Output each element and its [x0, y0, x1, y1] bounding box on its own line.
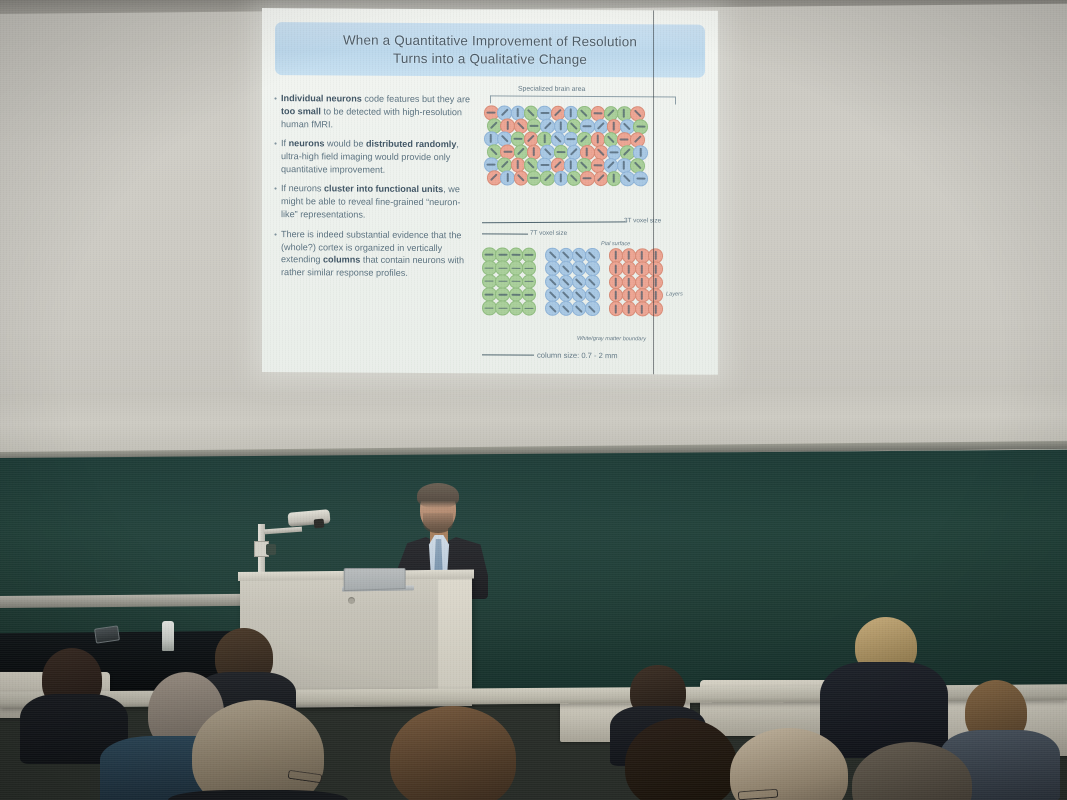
neuron-green: [482, 261, 497, 276]
neuron-green: [527, 171, 542, 186]
cortical-column-blue: [545, 248, 598, 315]
neuron-red: [635, 262, 650, 277]
speaker-hair: [417, 483, 459, 508]
neuron-blue: [559, 274, 574, 289]
voxel-rule-3t: [482, 221, 627, 223]
brain-area-bracket: [490, 95, 676, 104]
neuron-red: [609, 261, 624, 276]
projected-slide: When a Quantitative Improvement of Resol…: [262, 8, 718, 375]
document-camera-body: [266, 544, 276, 555]
desk-lamp: [162, 621, 174, 651]
projection-screen-seam: [653, 10, 654, 374]
neuron-red: [635, 302, 650, 317]
neuron-blue: [500, 170, 515, 185]
podium-knob: [348, 597, 355, 604]
bullet-marker: •: [270, 137, 281, 176]
diagram-label-white-gray-boundary: White/gray matter boundary: [577, 336, 646, 342]
neuron-blue: [585, 301, 600, 316]
neuron-blue: [572, 261, 587, 276]
neuron-red: [622, 301, 637, 316]
neuron-row: [487, 170, 680, 186]
audience-body-foreground: [168, 790, 348, 800]
neuron-red: [609, 301, 624, 316]
neuron-green: [482, 301, 497, 316]
neuron-red: [514, 171, 529, 186]
audience-head-foreground: [390, 706, 516, 800]
neuron-red: [622, 262, 637, 277]
neuron-green: [495, 274, 510, 289]
neuron-green: [522, 301, 537, 316]
bullet-text: If neurons cluster into functional units…: [281, 183, 476, 223]
neuron-red: [648, 302, 663, 317]
bullet-text: Individual neurons code features but the…: [281, 92, 476, 132]
diagram-label-7t: 7T voxel size: [530, 230, 567, 237]
neuron-green: [509, 274, 524, 289]
column-size-rule: [482, 354, 534, 355]
neuron-green: [607, 171, 622, 186]
neuron-blue: [620, 171, 635, 186]
neuron-blue: [545, 261, 560, 276]
document-camera-lens: [314, 519, 325, 529]
neuron-blue: [585, 261, 600, 276]
audience-head-foreground: [625, 718, 737, 800]
random-neuron-grid: [484, 105, 680, 184]
slide-bullet: •Individual neurons code features but th…: [270, 92, 476, 132]
neuron-green: [509, 261, 524, 276]
lecture-hall-photo: When a Quantitative Improvement of Resol…: [0, 0, 1067, 800]
neuron-green: [567, 171, 582, 186]
laptop-screen: [344, 568, 406, 591]
neuron-blue: [554, 171, 569, 186]
diagram-label-pial-surface: Pial surface: [601, 241, 630, 247]
neuron-blue: [545, 301, 560, 316]
neuron-red: [648, 262, 663, 277]
neuron-green: [482, 274, 497, 289]
bullet-marker: •: [270, 182, 281, 221]
neuron-green: [495, 261, 510, 276]
neuron-blue: [633, 171, 648, 186]
diagram-label-column-size: column size: 0.7 - 2 mm: [537, 351, 618, 360]
slide-title: When a Quantitative Improvement of Resol…: [275, 22, 705, 78]
neuron-green: [509, 301, 524, 316]
neuron-red: [487, 170, 502, 185]
diagram-label-layers: Layers: [666, 291, 683, 297]
neuron-row: [482, 301, 535, 316]
bullet-marker: •: [270, 92, 281, 131]
slide-title-line-1: When a Quantitative Improvement of Resol…: [343, 33, 637, 50]
cortical-column-grid: [482, 247, 662, 315]
bullet-text: If neurons would be distributed randomly…: [281, 137, 476, 177]
neuron-red: [635, 275, 650, 290]
audience-head-foreground: [192, 700, 324, 800]
slide-title-line-2: Turns into a Qualitative Change: [393, 50, 587, 66]
neuron-red: [580, 171, 595, 186]
speaker-beard: [423, 513, 453, 533]
slide-bullet: •If neurons would be distributed randoml…: [270, 137, 476, 177]
diagram-label-3t: 3T voxel size: [624, 217, 661, 224]
neuron-green: [540, 171, 555, 186]
slide-bullet: •There is indeed substantial evidence th…: [270, 228, 476, 281]
slide-bullet: •If neurons cluster into functional unit…: [270, 182, 476, 222]
neuron-red: [609, 275, 624, 290]
bullet-text: There is indeed substantial evidence tha…: [281, 228, 476, 281]
neuron-row: [545, 301, 598, 316]
diagram-label-brain-area: Specialized brain area: [518, 86, 585, 93]
neuron-blue: [545, 274, 560, 289]
slide-diagram: Specialized brain area 3T voxel size 7T …: [474, 85, 712, 371]
cortical-column-green: [482, 247, 535, 314]
slide-bullet-list: •Individual neurons code features but th…: [270, 92, 476, 287]
neuron-green: [522, 261, 537, 276]
neuron-blue: [559, 301, 574, 316]
podium-side-panel: [438, 580, 472, 700]
bullet-marker: •: [270, 228, 281, 280]
neuron-red: [648, 275, 663, 290]
neuron-green: [495, 301, 510, 316]
voxel-rule-7t: [482, 233, 528, 234]
neuron-blue: [585, 275, 600, 290]
neuron-red: [594, 171, 609, 186]
neuron-blue: [572, 301, 587, 316]
neuron-blue: [559, 261, 574, 276]
